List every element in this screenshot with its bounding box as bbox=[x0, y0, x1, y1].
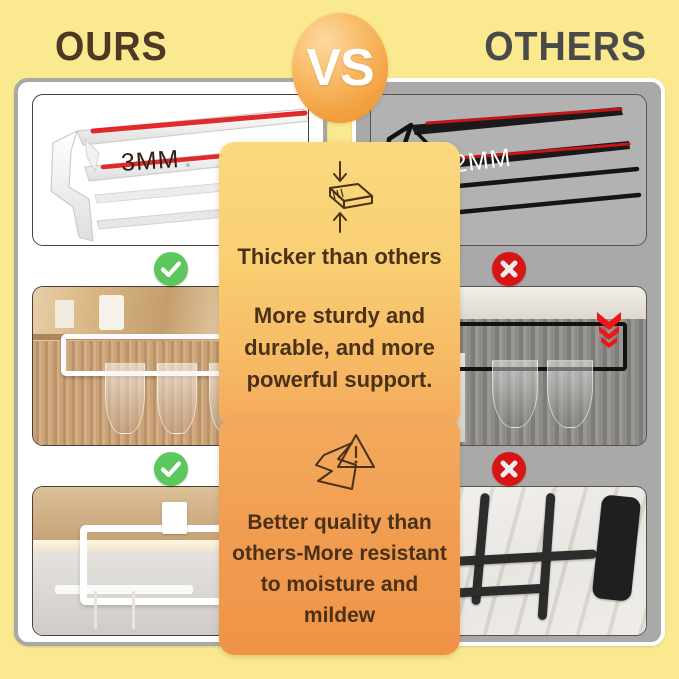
quality-card-heading: Better quality than others-More resistan… bbox=[219, 507, 460, 631]
cross-circle-icon bbox=[492, 252, 526, 286]
cross-circle-icon bbox=[492, 452, 526, 486]
thickness-card-heading: Thicker than others bbox=[219, 242, 460, 272]
thickness-plank-icon bbox=[300, 158, 380, 236]
page-title-others: OTHERS bbox=[435, 20, 647, 72]
thickness-card: Thicker than others More sturdy and dura… bbox=[219, 142, 460, 427]
down-chevrons-icon bbox=[594, 308, 624, 352]
rack-hook bbox=[162, 502, 187, 535]
glass-stem bbox=[94, 591, 97, 629]
hanging-glass bbox=[157, 363, 198, 435]
page-title-ours: OURS bbox=[55, 20, 239, 72]
vs-label: VS bbox=[292, 13, 388, 123]
check-circle-icon bbox=[154, 252, 188, 286]
hanging-glass bbox=[105, 363, 146, 435]
thickness-card-body: More sturdy and durable, and more powerf… bbox=[219, 300, 460, 396]
warning-icon-wrap bbox=[219, 417, 460, 501]
check-badge-top bbox=[154, 252, 188, 286]
thickness-icon-wrap bbox=[219, 142, 460, 236]
cross-badge-top bbox=[492, 252, 526, 286]
vs-badge: VS bbox=[292, 13, 388, 123]
cup-a bbox=[55, 300, 74, 328]
cross-badge-bottom bbox=[492, 452, 526, 486]
infographic-stage: OURS OTHERS VS bbox=[0, 0, 679, 679]
ours-thickness-label: 3MM bbox=[120, 145, 180, 178]
warning-crack-icon bbox=[294, 431, 386, 501]
glass-stem bbox=[132, 591, 135, 629]
check-badge-bottom bbox=[154, 452, 188, 486]
quality-card: Better quality than others-More resistan… bbox=[219, 417, 460, 655]
cup-b bbox=[99, 295, 124, 330]
check-circle-icon bbox=[154, 452, 188, 486]
